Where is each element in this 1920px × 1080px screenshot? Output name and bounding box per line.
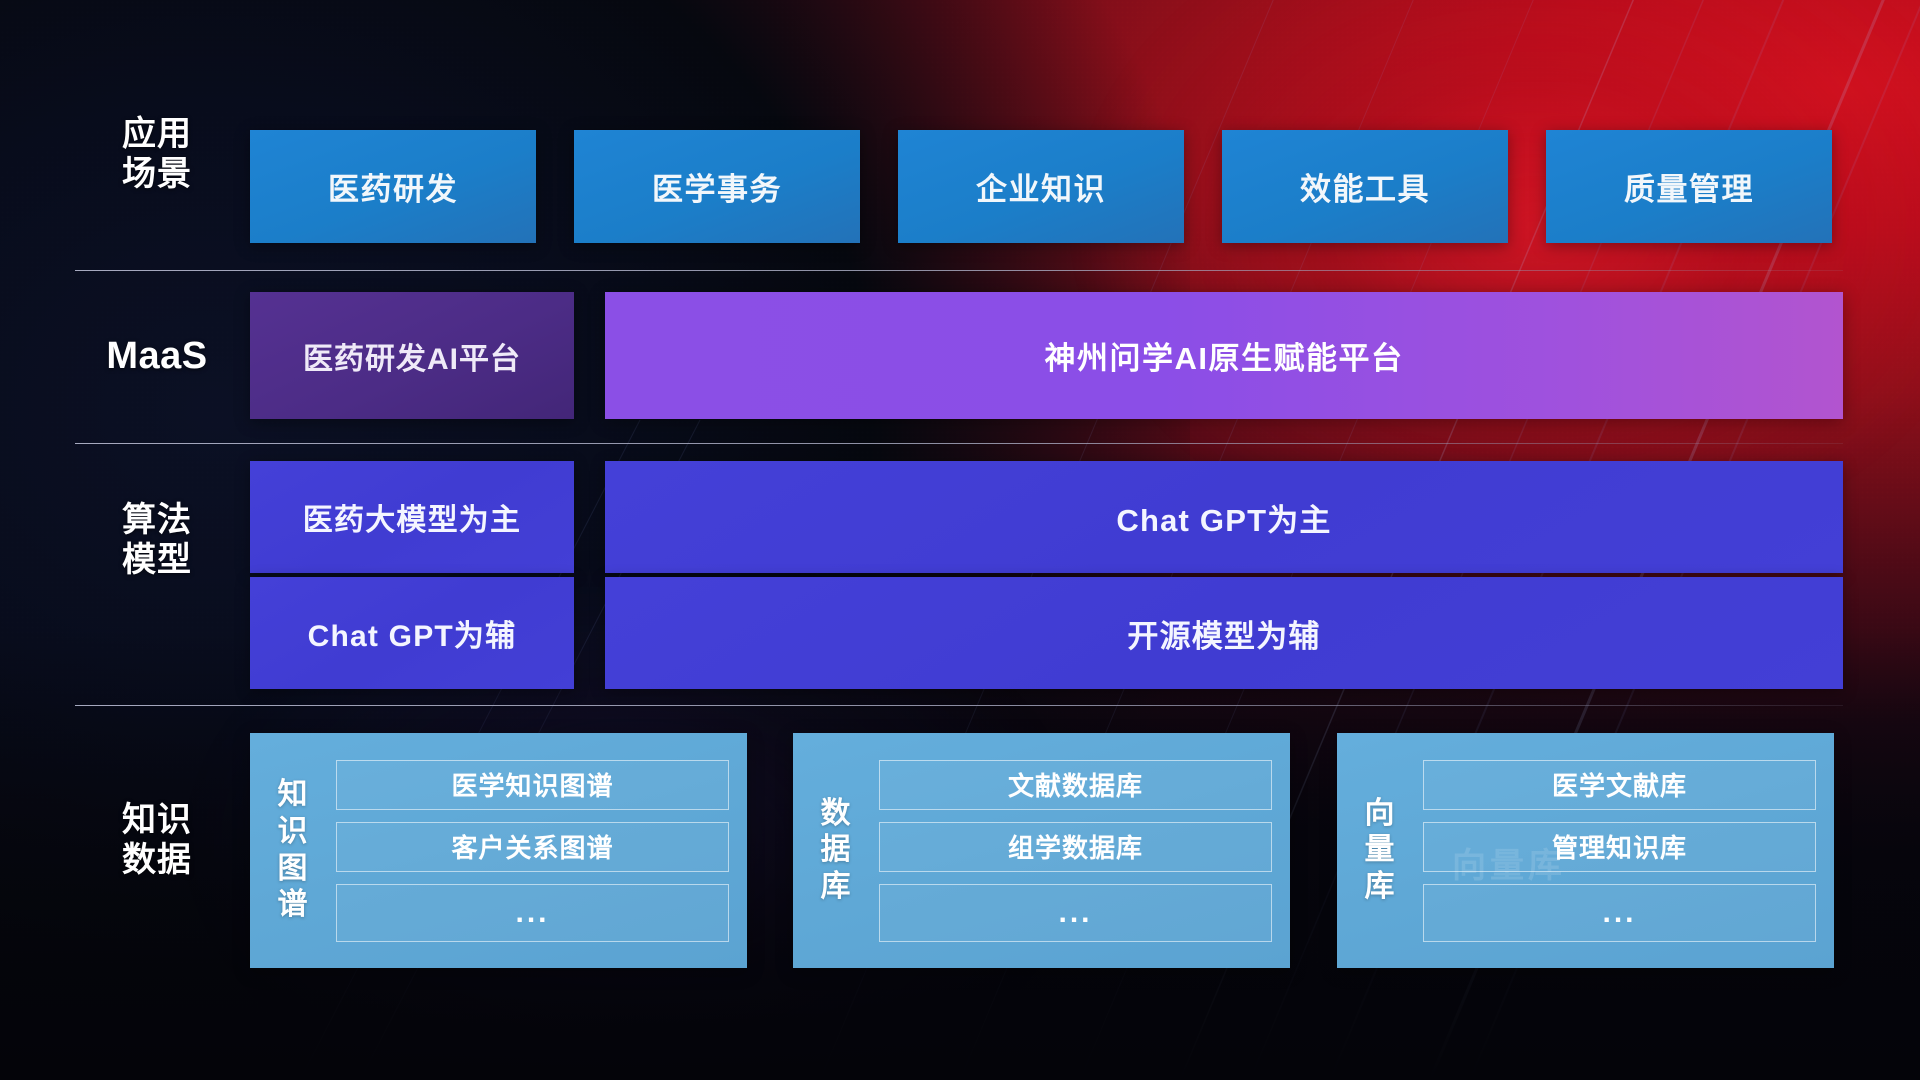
title-char-2: 据 — [793, 832, 879, 869]
knowledge-item-more[interactable]: ... — [336, 884, 729, 942]
knowledge-group-title: 数 据 库 — [793, 796, 879, 906]
knowledge-group-title: 知 识 图 谱 — [250, 777, 336, 923]
knowledge-group-knowledge-graph: 知 识 图 谱 医学知识图谱 客户关系图谱 ... — [250, 733, 747, 968]
knowledge-group-title: 向 量 库 — [1337, 796, 1423, 906]
row-label-algorithm-models: 算法 模型 — [82, 500, 232, 580]
knowledge-group-items: 医学文献库 管理知识库 ... — [1423, 760, 1834, 942]
knowledge-item-medical-knowledge-graph[interactable]: 医学知识图谱 — [336, 760, 729, 810]
title-char-3: 库 — [1337, 869, 1423, 906]
app-box-enterprise-knowledge[interactable]: 企业知识 — [898, 130, 1184, 243]
knowledge-group-items: 文献数据库 组学数据库 ... — [879, 760, 1290, 942]
algo-box-medicine-llm-primary[interactable]: 医药大模型为主 — [250, 461, 574, 573]
title-char-4: 谱 — [250, 887, 336, 924]
row-label-line-1: 应用 — [82, 114, 232, 154]
divider-3 — [75, 705, 1843, 706]
maas-box-shenzhou-wenxue-platform[interactable]: 神州问学AI原生赋能平台 — [605, 292, 1843, 419]
knowledge-group-items: 医学知识图谱 客户关系图谱 ... — [336, 760, 747, 942]
knowledge-item-literature-database[interactable]: 文献数据库 — [879, 760, 1272, 810]
divider-2 — [75, 443, 1843, 444]
title-char-3: 库 — [793, 869, 879, 906]
algo-box-chatgpt-secondary[interactable]: Chat GPT为辅 — [250, 577, 574, 689]
app-box-efficiency-tools[interactable]: 效能工具 — [1222, 130, 1508, 243]
knowledge-item-medical-literature-store[interactable]: 医学文献库 — [1423, 760, 1816, 810]
title-char-3: 图 — [250, 851, 336, 888]
row-label-line-2: 数据 — [82, 840, 232, 880]
row-label-maas: MaaS — [82, 334, 232, 379]
divider-1 — [75, 270, 1843, 271]
app-box-medical-affairs[interactable]: 医学事务 — [574, 130, 860, 243]
knowledge-item-omics-database[interactable]: 组学数据库 — [879, 822, 1272, 872]
row-label-application-scenarios: 应用 场景 — [82, 114, 232, 194]
application-scenario-boxes: 医药研发 医学事务 企业知识 效能工具 质量管理 — [250, 130, 1832, 243]
row-label-line-2: 模型 — [82, 540, 232, 580]
knowledge-item-management-knowledge-store[interactable]: 管理知识库 — [1423, 822, 1816, 872]
title-char-2: 量 — [1337, 832, 1423, 869]
row-label-line-1: 算法 — [82, 500, 232, 540]
knowledge-item-customer-relation-graph[interactable]: 客户关系图谱 — [336, 822, 729, 872]
algo-box-chatgpt-primary[interactable]: Chat GPT为主 — [605, 461, 1843, 573]
knowledge-item-more[interactable]: ... — [1423, 884, 1816, 942]
diagram-content: 应用 场景 医药研发 医学事务 企业知识 效能工具 质量管理 MaaS 医药研发… — [0, 0, 1920, 1080]
row-label-line-1: 知识 — [82, 800, 232, 840]
title-char-1: 向 — [1337, 796, 1423, 833]
maas-box-medicine-ai-platform[interactable]: 医药研发AI平台 — [250, 292, 574, 419]
title-char-1: 知 — [250, 777, 336, 814]
app-box-medicine-rd[interactable]: 医药研发 — [250, 130, 536, 243]
row-label-knowledge-data: 知识 数据 — [82, 800, 232, 880]
knowledge-item-more[interactable]: ... — [879, 884, 1272, 942]
row-label-line-2: 场景 — [82, 154, 232, 194]
app-box-quality-management[interactable]: 质量管理 — [1546, 130, 1832, 243]
title-char-1: 数 — [793, 796, 879, 833]
knowledge-group-vector-store: 向 量 库 医学文献库 管理知识库 ... — [1337, 733, 1834, 968]
slide-canvas: 应用 场景 医药研发 医学事务 企业知识 效能工具 质量管理 MaaS 医药研发… — [0, 0, 1920, 1080]
knowledge-group-database: 数 据 库 文献数据库 组学数据库 ... — [793, 733, 1290, 968]
title-char-2: 识 — [250, 814, 336, 851]
algo-box-opensource-secondary[interactable]: 开源模型为辅 — [605, 577, 1843, 689]
